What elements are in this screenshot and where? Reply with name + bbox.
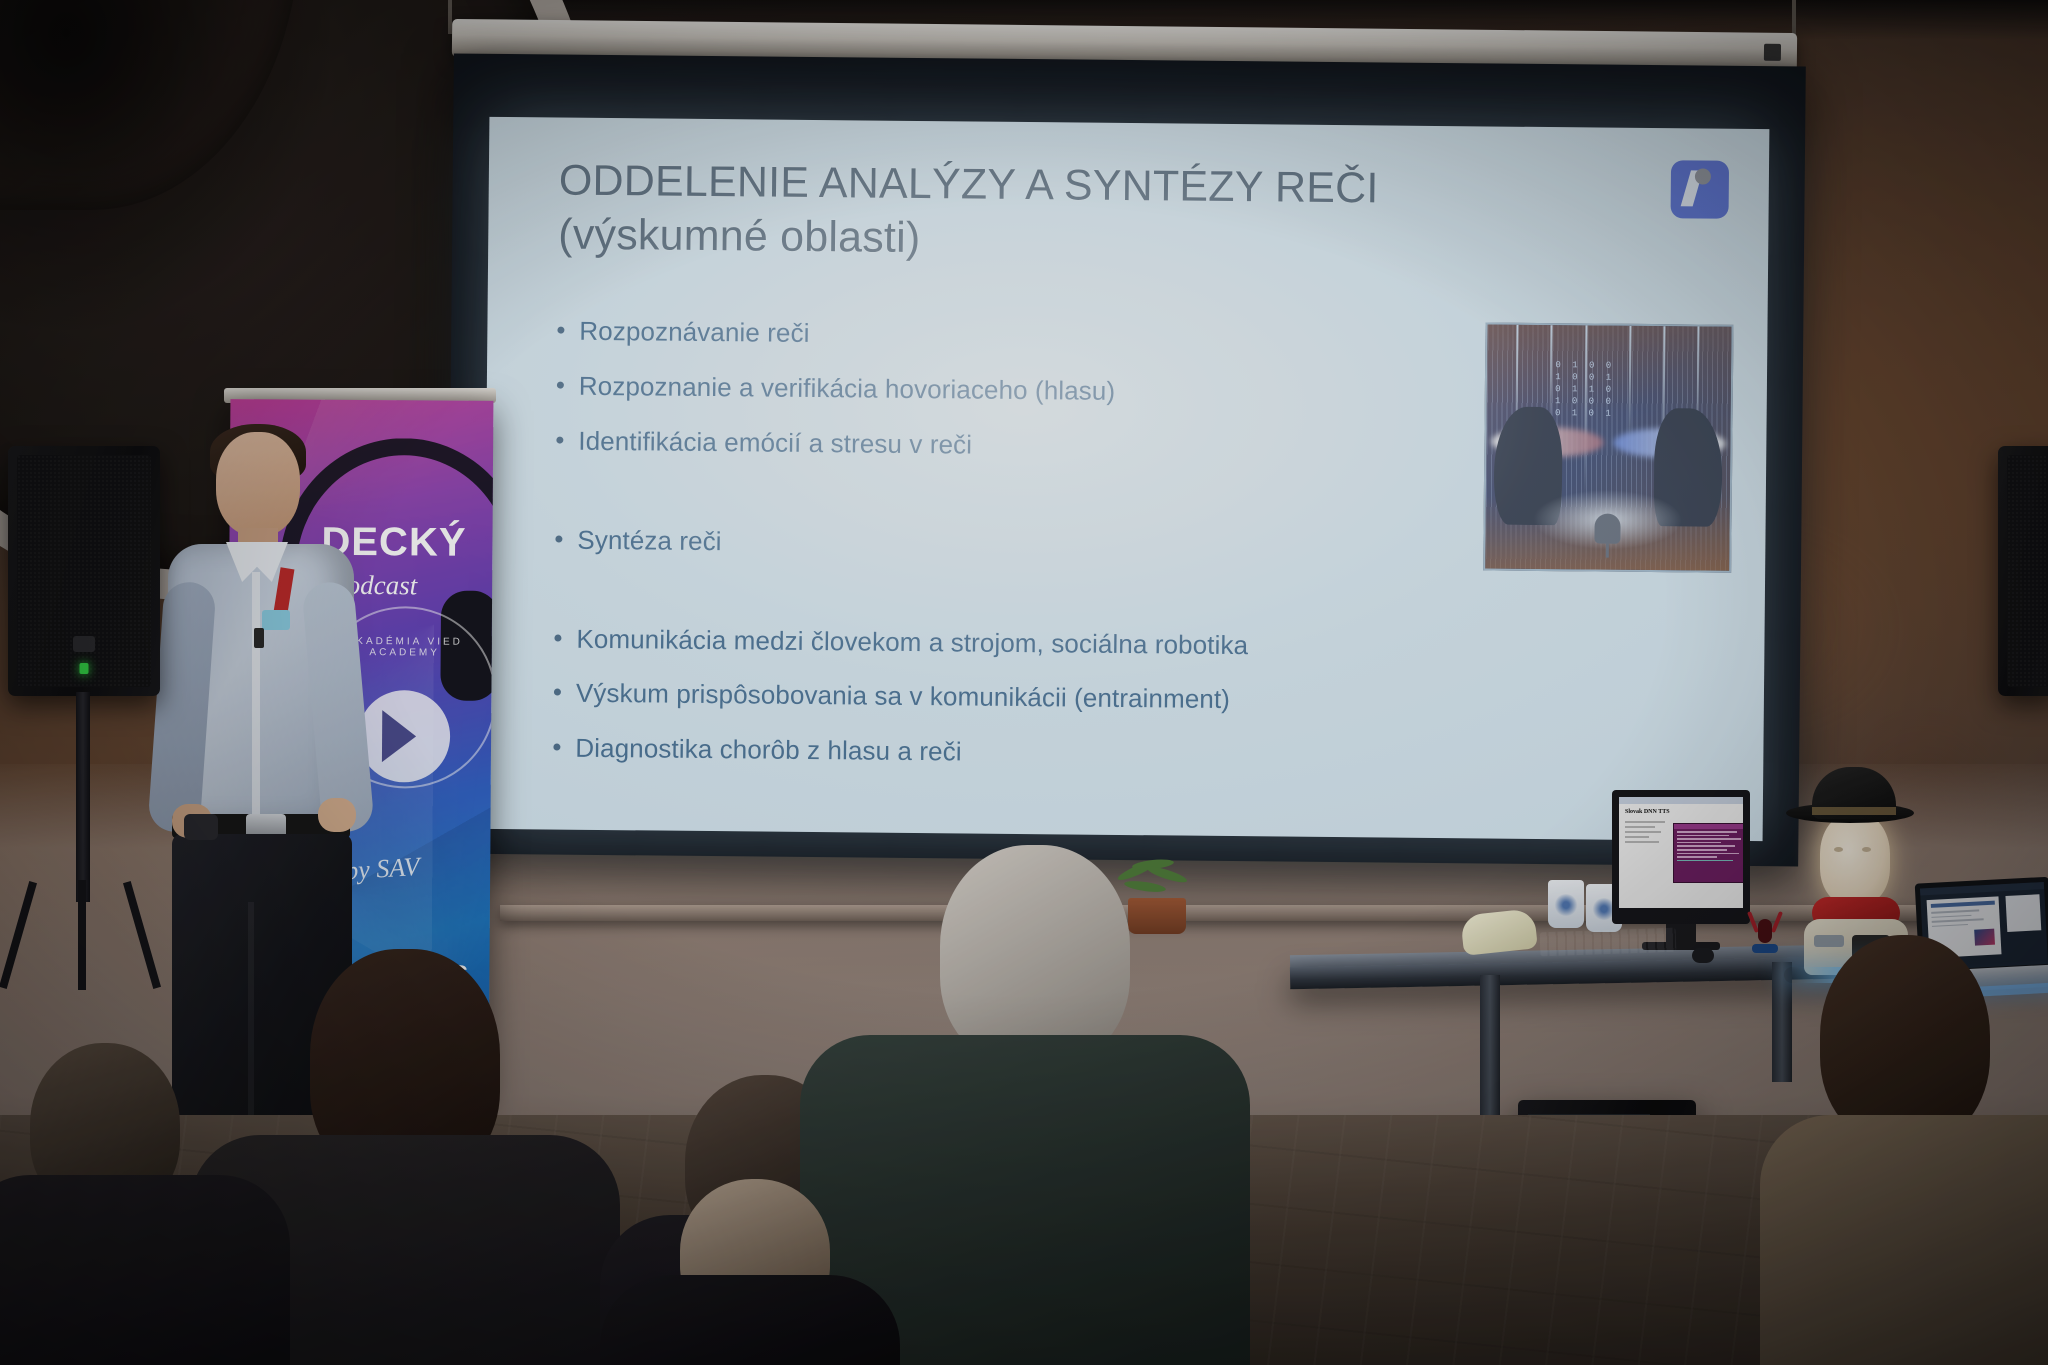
bullet-dot-icon — [556, 437, 563, 444]
projection-screen[interactable]: ODDELENIE ANALÝZY A SYNTÉZY REČI (výskum… — [483, 117, 1770, 841]
terminal-line — [1677, 853, 1739, 855]
terminal-line — [1677, 838, 1741, 840]
microphone-icon — [1594, 514, 1620, 544]
list-item: Výskum prispôsobovania sa v komunikácii … — [554, 676, 1354, 719]
text-line — [1625, 826, 1655, 828]
audience-shoulders — [0, 1175, 290, 1365]
text-line — [1625, 831, 1661, 833]
text-line — [1625, 821, 1665, 823]
sav-emblem-icon — [358, 690, 451, 783]
presenter-head — [216, 432, 300, 536]
preview-line — [1931, 914, 1971, 918]
terminal-titlebar — [1674, 824, 1743, 829]
audience-member-5 — [600, 1175, 900, 1365]
pa-speaker-right — [1998, 446, 2048, 696]
terminal-line — [1677, 835, 1729, 837]
audience-shoulders — [1760, 1115, 2048, 1365]
terminal-line — [1677, 856, 1717, 858]
roller-badge-icon — [1764, 44, 1781, 61]
mouse[interactable] — [1692, 948, 1714, 963]
tripod-leg — [123, 881, 161, 989]
speaker-tripod-left — [10, 880, 160, 990]
speaker-brand-icon — [73, 636, 95, 652]
bullet-spacer — [555, 577, 1355, 629]
mannequin-eye — [1834, 847, 1843, 852]
speaker-grille — [17, 455, 151, 687]
preview-line — [1931, 909, 1979, 913]
terminal-line — [1677, 842, 1721, 844]
text-line — [1625, 836, 1649, 838]
bullet-text: Výskum prispôsobovania sa v komunikácii … — [576, 676, 1230, 717]
bullet-text: Syntéza reči — [577, 523, 722, 559]
lapel-microphone-icon — [254, 628, 264, 648]
audience-member-6 — [1760, 925, 2048, 1365]
ai-speech-illustration: 0 1 0 0 1 0 0 1 0 1 1 0 1 0 0 0 0 1 0 1 — [1483, 322, 1733, 572]
presenter-badge — [262, 610, 290, 630]
bullet-text: Komunikácia medzi človekom a strojom, so… — [576, 621, 1248, 662]
mannequin-face — [1820, 813, 1890, 905]
slide-title: ODDELENIE ANALÝZY A SYNTÉZY REČI (výskum… — [558, 154, 1727, 274]
window-titlebar — [1619, 797, 1743, 804]
bullet-spacer — [556, 478, 1356, 530]
list-item: Diagnostika chorôb z hlasu a reči — [553, 731, 1353, 774]
presenter-placket — [252, 572, 260, 822]
power-led — [80, 663, 89, 674]
list-item: Rozpoznávanie reči — [557, 314, 1357, 357]
bullet-text: Identifikácia emócií a stresu v reči — [578, 424, 972, 463]
window-title: Slovak DNN TTS — [1625, 809, 1670, 815]
terminal-window[interactable] — [1673, 823, 1743, 883]
document-lines — [1625, 821, 1671, 846]
preview-title — [1931, 901, 1995, 908]
bullet-dot-icon — [554, 634, 561, 641]
institute-logo — [1669, 158, 1732, 221]
bullet-dot-icon — [555, 535, 562, 542]
keyboard[interactable] — [1540, 928, 1677, 957]
cup-decoration — [1554, 894, 1578, 916]
audience-head — [940, 845, 1130, 1065]
preview-line — [1932, 918, 1984, 922]
terminal-line — [1677, 831, 1737, 833]
text-line — [1625, 841, 1659, 843]
bullet-dot-icon — [557, 382, 564, 389]
tripod-leg — [78, 880, 86, 990]
bullet-dot-icon — [554, 689, 561, 696]
bullet-text: Rozpoznávanie reči — [579, 314, 809, 351]
list-item: Komunikácia medzi človekom a strojom, so… — [554, 621, 1354, 664]
app-tabbar[interactable] — [1920, 882, 2044, 895]
audience-head — [1820, 935, 1990, 1145]
slide-content: ODDELENIE ANALÝZY A SYNTÉZY REČI (výskum… — [483, 117, 1770, 841]
list-item: Syntéza reči — [555, 522, 1355, 565]
speaker-stand-pole-left — [76, 692, 90, 902]
arch-shadow — [0, 0, 330, 330]
presentation-clicker[interactable] — [184, 814, 218, 840]
list-item: Identifikácia emócií a stresu v reči — [556, 424, 1356, 467]
lecture-room-scene: ODDELENIE ANALÝZY A SYNTÉZY REČI (výskum… — [0, 0, 2048, 1365]
bullet-list: Rozpoznávanie reči Rozpoznanie a verifik… — [553, 314, 1357, 773]
bullet-dot-icon — [553, 744, 560, 751]
terminal-line — [1677, 845, 1735, 847]
bullet-text: Diagnostika chorôb z hlasu a reči — [575, 731, 962, 770]
desktop-monitor[interactable]: Slovak DNN TTS — [1612, 790, 1750, 924]
pa-speaker-left — [8, 446, 160, 696]
hat-band — [1812, 807, 1896, 815]
speaker-grille — [2007, 455, 2048, 687]
terminal-line — [1677, 849, 1727, 851]
audience-member-2 — [0, 1025, 290, 1365]
bullet-dot-icon — [557, 327, 564, 334]
bullet-text: Rozpoznanie a verifikácia hovoriaceho (h… — [579, 369, 1116, 409]
terminal-line — [1677, 860, 1733, 862]
monitor-screen[interactable]: Slovak DNN TTS — [1619, 797, 1743, 908]
audience-shoulders — [600, 1275, 900, 1365]
presenter-hand-right — [318, 798, 356, 832]
mannequin-eye — [1862, 847, 1871, 852]
list-item: Rozpoznanie a verifikácia hovoriaceho (h… — [557, 369, 1357, 412]
paper-cup — [1548, 880, 1584, 928]
